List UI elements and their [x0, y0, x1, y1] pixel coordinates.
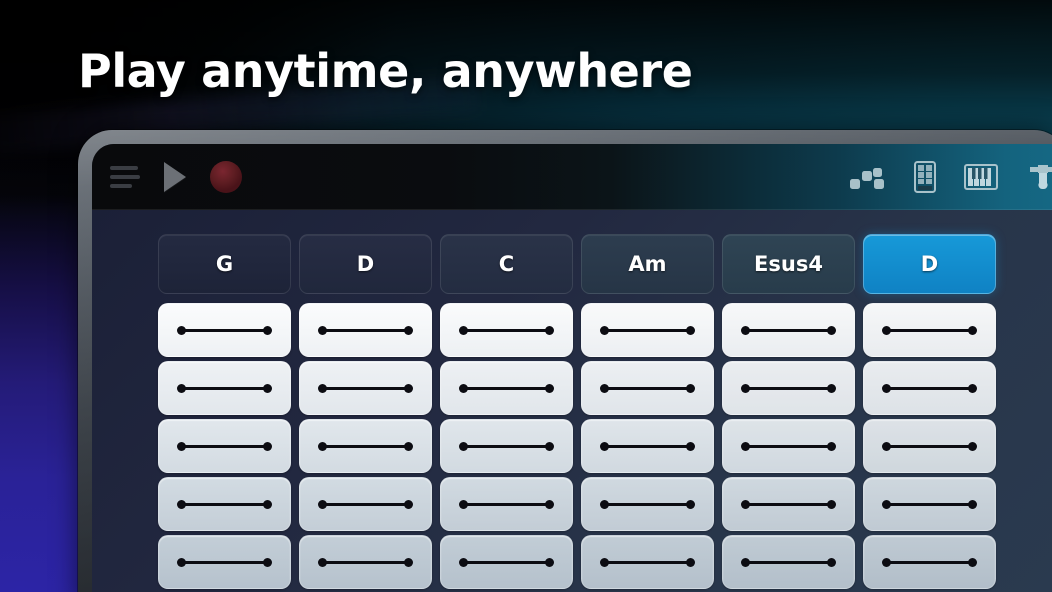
string-line [181, 445, 268, 448]
string-row[interactable] [722, 361, 855, 415]
string-row[interactable] [863, 419, 996, 473]
chord-button[interactable]: G [158, 234, 291, 294]
string-row[interactable] [581, 477, 714, 531]
string-line [463, 561, 550, 564]
chord-column-1: G [158, 234, 291, 592]
string-line [322, 561, 409, 564]
string-row[interactable] [299, 303, 432, 357]
string-line [886, 561, 973, 564]
string-line [745, 329, 832, 332]
string-line [322, 445, 409, 448]
string-line [604, 561, 691, 564]
keyboard-icon[interactable] [964, 162, 998, 192]
string-row[interactable] [440, 303, 573, 357]
chord-button[interactable]: D [299, 234, 432, 294]
string-line [181, 503, 268, 506]
string-list [299, 303, 432, 592]
string-row[interactable] [299, 477, 432, 531]
string-row[interactable] [863, 535, 996, 589]
string-list [581, 303, 714, 592]
string-line [322, 503, 409, 506]
string-row[interactable] [581, 419, 714, 473]
string-row[interactable] [863, 477, 996, 531]
chord-column-4: Am [581, 234, 714, 592]
device-screen: G D [92, 144, 1052, 592]
string-row[interactable] [158, 361, 291, 415]
string-line [604, 445, 691, 448]
string-line [604, 503, 691, 506]
chord-column-5: Esus4 [722, 234, 855, 592]
string-line [745, 503, 832, 506]
string-list [863, 303, 996, 592]
string-row[interactable] [158, 419, 291, 473]
string-line [886, 503, 973, 506]
string-row[interactable] [158, 477, 291, 531]
string-row[interactable] [440, 477, 573, 531]
string-row[interactable] [722, 419, 855, 473]
string-line [463, 503, 550, 506]
string-line [181, 387, 268, 390]
string-line [886, 445, 973, 448]
chord-columns: G D [158, 234, 996, 592]
string-line [463, 329, 550, 332]
chord-button[interactable]: Esus4 [722, 234, 855, 294]
string-line [745, 445, 832, 448]
toolbar-right-controls [850, 144, 1052, 210]
string-row[interactable] [581, 361, 714, 415]
chord-column-6: D [863, 234, 996, 592]
chord-button[interactable]: Am [581, 234, 714, 294]
string-line [886, 329, 973, 332]
string-line [604, 387, 691, 390]
play-icon[interactable] [164, 162, 186, 192]
string-row[interactable] [722, 303, 855, 357]
chord-column-2: D [299, 234, 432, 592]
device-frame: G D [78, 130, 1052, 592]
string-line [181, 561, 268, 564]
string-row[interactable] [722, 535, 855, 589]
app-toolbar [92, 144, 1052, 210]
promo-screenshot: Play anytime, anywhere [0, 0, 1052, 592]
string-line [745, 561, 832, 564]
string-row[interactable] [299, 419, 432, 473]
string-row[interactable] [722, 477, 855, 531]
string-list [722, 303, 855, 592]
record-icon[interactable] [210, 161, 242, 193]
amp-icon[interactable] [1026, 161, 1052, 193]
string-row[interactable] [299, 361, 432, 415]
smart-controls-icon[interactable] [850, 164, 886, 190]
string-row[interactable] [863, 361, 996, 415]
chord-button-selected[interactable]: D [863, 234, 996, 294]
string-line [463, 387, 550, 390]
string-line [886, 387, 973, 390]
string-row[interactable] [581, 303, 714, 357]
toolbar-left-controls [92, 144, 242, 210]
chord-strip-board: G D [92, 210, 1052, 592]
string-line [181, 329, 268, 332]
string-row[interactable] [158, 535, 291, 589]
string-row[interactable] [440, 419, 573, 473]
string-list [158, 303, 291, 592]
chord-column-3: C [440, 234, 573, 592]
string-line [322, 329, 409, 332]
string-line [604, 329, 691, 332]
string-row[interactable] [440, 535, 573, 589]
string-row[interactable] [581, 535, 714, 589]
tracks-icon[interactable] [110, 165, 140, 189]
drum-pads-icon[interactable] [914, 161, 936, 193]
string-row[interactable] [158, 303, 291, 357]
page-title: Play anytime, anywhere [78, 40, 693, 102]
string-row[interactable] [863, 303, 996, 357]
string-line [463, 445, 550, 448]
string-row[interactable] [299, 535, 432, 589]
string-line [322, 387, 409, 390]
string-row[interactable] [440, 361, 573, 415]
string-list [440, 303, 573, 592]
string-line [745, 387, 832, 390]
chord-button[interactable]: C [440, 234, 573, 294]
